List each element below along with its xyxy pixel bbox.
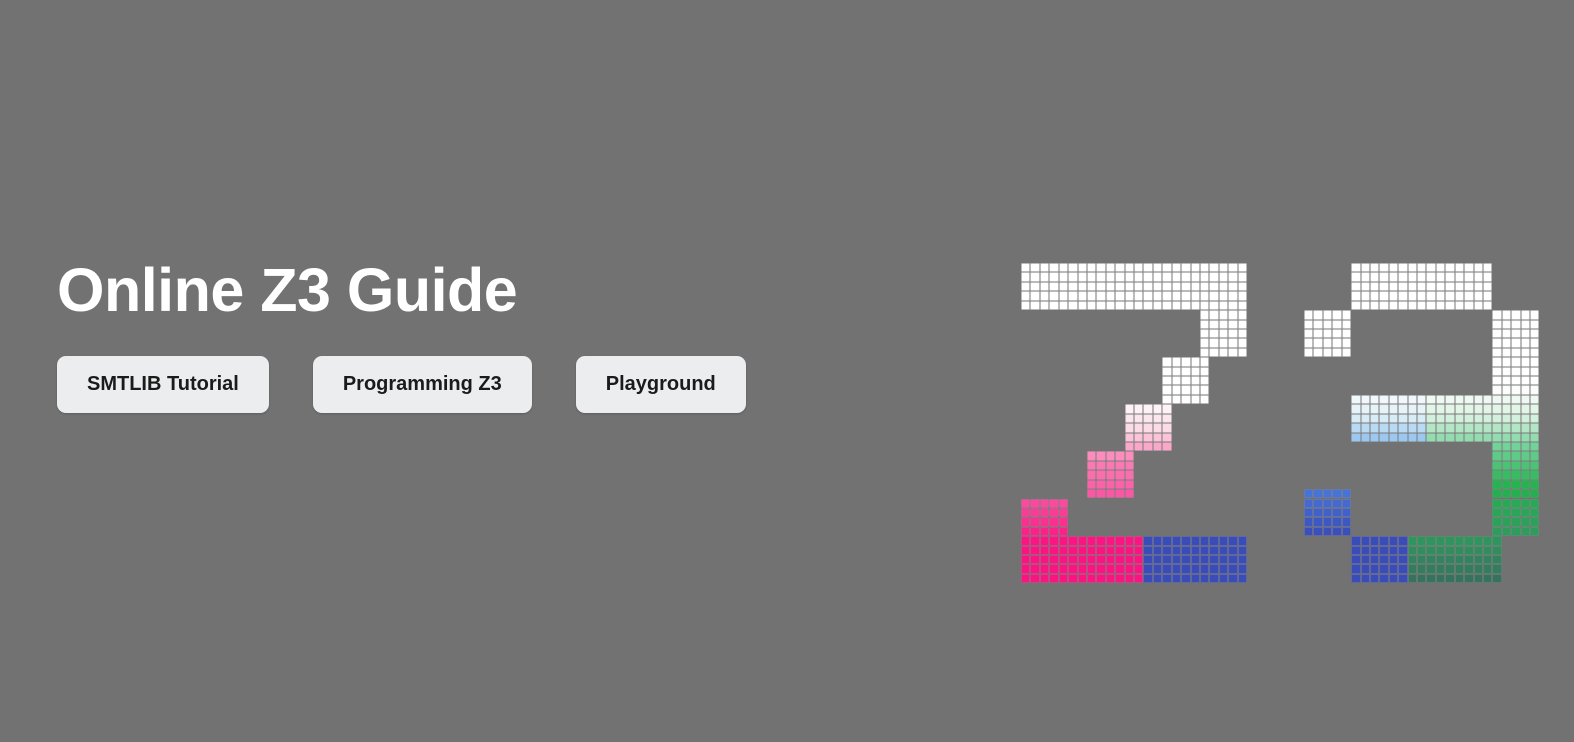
- pixel-cell: [1068, 546, 1077, 555]
- pixel-cell: [1030, 517, 1039, 526]
- pixel-cell: [1530, 320, 1539, 329]
- pixel-cell: [1106, 301, 1115, 310]
- pixel-cell: [1332, 338, 1341, 347]
- pixel-cell: [1172, 367, 1181, 376]
- pixel-cell: [1511, 367, 1520, 376]
- pixel-cell: [1153, 433, 1162, 442]
- pixel-cell: [1530, 329, 1539, 338]
- pixel-cell: [1379, 395, 1388, 404]
- pixel-cell: [1049, 546, 1058, 555]
- pixel-cell: [1455, 291, 1464, 300]
- pixel-cell: [1332, 517, 1341, 526]
- pixel-cell: [1087, 564, 1096, 573]
- pixel-cell: [1502, 338, 1511, 347]
- pixel-cell: [1209, 282, 1218, 291]
- pixel-cell: [1059, 555, 1068, 564]
- pixel-cell: [1172, 564, 1181, 573]
- pixel-cell: [1078, 263, 1087, 272]
- pixel-cell: [1389, 546, 1398, 555]
- pixel-cell: [1511, 395, 1520, 404]
- pixel-cell: [1511, 357, 1520, 366]
- pixel-cell: [1455, 263, 1464, 272]
- pixel-cell: [1191, 367, 1200, 376]
- pixel-cell: [1096, 263, 1105, 272]
- pixel-cell: [1379, 404, 1388, 413]
- pixel-cell: [1134, 536, 1143, 545]
- pixel-cell: [1379, 301, 1388, 310]
- pixel-cell: [1143, 536, 1152, 545]
- pixel-cell: [1040, 574, 1049, 583]
- pixel-cell: [1521, 423, 1530, 432]
- pixel-cell: [1389, 414, 1398, 423]
- pixel-cell: [1426, 546, 1435, 555]
- pixel-cell: [1530, 527, 1539, 536]
- pixel-cell: [1200, 395, 1209, 404]
- pixel-cell: [1389, 574, 1398, 583]
- playground-button[interactable]: Playground: [576, 356, 746, 413]
- pixel-cell: [1464, 536, 1473, 545]
- pixel-cell: [1417, 574, 1426, 583]
- pixel-cell: [1492, 527, 1501, 536]
- pixel-cell: [1436, 546, 1445, 555]
- pixel-cell: [1228, 564, 1237, 573]
- pixel-cell: [1370, 395, 1379, 404]
- pixel-cell: [1238, 291, 1247, 300]
- pixel-cell: [1474, 423, 1483, 432]
- pixel-cell: [1474, 282, 1483, 291]
- pixel-cell: [1162, 574, 1171, 583]
- pixel-cell: [1455, 423, 1464, 432]
- pixel-cell: [1078, 555, 1087, 564]
- pixel-cell: [1125, 546, 1134, 555]
- pixel-cell: [1153, 414, 1162, 423]
- pixel-cell: [1153, 536, 1162, 545]
- pixel-cell: [1530, 357, 1539, 366]
- pixel-cell: [1115, 282, 1124, 291]
- pixel-cell: [1059, 546, 1068, 555]
- pixel-cell: [1200, 291, 1209, 300]
- pixel-cell: [1408, 301, 1417, 310]
- pixel-cell: [1040, 546, 1049, 555]
- pixel-cell: [1436, 395, 1445, 404]
- pixel-cell: [1200, 272, 1209, 281]
- pixel-cell: [1417, 272, 1426, 281]
- pixel-cell: [1153, 423, 1162, 432]
- pixel-cell: [1389, 404, 1398, 413]
- pixel-cell: [1370, 574, 1379, 583]
- pixel-cell: [1492, 367, 1501, 376]
- pixel-cell: [1445, 291, 1454, 300]
- pixel-cell: [1040, 301, 1049, 310]
- pixel-cell: [1200, 574, 1209, 583]
- pixel-cell: [1492, 536, 1501, 545]
- pixel-cell: [1228, 272, 1237, 281]
- pixel-cell: [1125, 480, 1134, 489]
- pixel-cell: [1181, 385, 1190, 394]
- pixel-cell: [1200, 555, 1209, 564]
- pixel-cell: [1379, 282, 1388, 291]
- pixel-cell: [1106, 461, 1115, 470]
- pixel-cell: [1021, 527, 1030, 536]
- pixel-cell: [1502, 442, 1511, 451]
- pixel-cell: [1200, 301, 1209, 310]
- pixel-cell: [1323, 320, 1332, 329]
- pixel-cell: [1125, 404, 1134, 413]
- pixel-cell: [1153, 291, 1162, 300]
- pixel-cell: [1078, 272, 1087, 281]
- pixel-cell: [1474, 433, 1483, 442]
- pixel-cell: [1191, 546, 1200, 555]
- pixel-cell: [1492, 480, 1501, 489]
- pixel-cell: [1068, 574, 1077, 583]
- pixel-cell: [1304, 508, 1313, 517]
- pixel-cell: [1125, 555, 1134, 564]
- pixel-cell: [1096, 555, 1105, 564]
- pixel-cell: [1408, 263, 1417, 272]
- pixel-cell: [1342, 527, 1351, 536]
- pixel-cell: [1455, 564, 1464, 573]
- pixel-cell: [1040, 263, 1049, 272]
- pixel-cell: [1162, 291, 1171, 300]
- pixel-cell: [1492, 310, 1501, 319]
- pixel-cell: [1464, 291, 1473, 300]
- pixel-cell: [1181, 574, 1190, 583]
- pixel-cell: [1209, 320, 1218, 329]
- pixel-cell: [1021, 574, 1030, 583]
- pixel-cell: [1511, 489, 1520, 498]
- pixel-cell: [1219, 329, 1228, 338]
- pixel-cell: [1209, 348, 1218, 357]
- pixel-cell: [1464, 301, 1473, 310]
- pixel-cell: [1530, 489, 1539, 498]
- pixel-cell: [1361, 301, 1370, 310]
- pixel-cell: [1304, 310, 1313, 319]
- pixel-cell: [1426, 272, 1435, 281]
- pixel-cell: [1408, 564, 1417, 573]
- pixel-cell: [1172, 272, 1181, 281]
- pixel-cell: [1134, 272, 1143, 281]
- pixel-cell: [1125, 423, 1134, 432]
- pixel-cell: [1474, 564, 1483, 573]
- pixel-cell: [1125, 564, 1134, 573]
- pixel-cell: [1361, 546, 1370, 555]
- pixel-cell: [1351, 263, 1360, 272]
- pixel-cell: [1209, 574, 1218, 583]
- pixel-cell: [1096, 574, 1105, 583]
- pixel-cell: [1370, 423, 1379, 432]
- pixel-cell: [1172, 301, 1181, 310]
- pixel-cell: [1492, 574, 1501, 583]
- pixel-cell: [1530, 414, 1539, 423]
- pixel-cell: [1417, 555, 1426, 564]
- pixel-cell: [1096, 461, 1105, 470]
- pixel-cell: [1474, 263, 1483, 272]
- pixel-cell: [1408, 282, 1417, 291]
- pixel-cell: [1436, 536, 1445, 545]
- pixel-cell: [1521, 451, 1530, 460]
- pixel-cell: [1191, 272, 1200, 281]
- pixel-cell: [1332, 508, 1341, 517]
- pixel-cell: [1389, 536, 1398, 545]
- pixel-cell: [1134, 546, 1143, 555]
- pixel-cell: [1125, 272, 1134, 281]
- pixel-cell: [1379, 536, 1388, 545]
- pixel-cell: [1068, 564, 1077, 573]
- pixel-cell: [1521, 414, 1530, 423]
- pixel-cell: [1521, 461, 1530, 470]
- pixel-cell: [1096, 536, 1105, 545]
- pixel-cell: [1200, 338, 1209, 347]
- pixel-cell: [1342, 499, 1351, 508]
- pixel-cell: [1436, 414, 1445, 423]
- pixel-cell: [1492, 423, 1501, 432]
- pixel-cell: [1342, 338, 1351, 347]
- pixel-cell: [1389, 433, 1398, 442]
- pixel-cell: [1408, 433, 1417, 442]
- pixel-cell: [1228, 546, 1237, 555]
- pixel-cell: [1530, 395, 1539, 404]
- pixel-cell: [1502, 527, 1511, 536]
- pixel-cell: [1191, 263, 1200, 272]
- pixel-cell: [1351, 404, 1360, 413]
- pixel-cell: [1219, 320, 1228, 329]
- pixel-cell: [1492, 404, 1501, 413]
- pixel-cell: [1521, 348, 1530, 357]
- pixel-cell: [1096, 282, 1105, 291]
- pixel-cell: [1530, 404, 1539, 413]
- pixel-cell: [1040, 517, 1049, 526]
- pixel-cell: [1351, 423, 1360, 432]
- pixel-cell: [1361, 291, 1370, 300]
- pixel-cell: [1059, 564, 1068, 573]
- pixel-cell: [1379, 291, 1388, 300]
- pixel-cell: [1115, 301, 1124, 310]
- pixel-cell: [1323, 489, 1332, 498]
- pixel-cell: [1200, 536, 1209, 545]
- pixel-cell: [1361, 423, 1370, 432]
- pixel-cell: [1228, 338, 1237, 347]
- pixel-cell: [1106, 272, 1115, 281]
- pixel-cell: [1304, 517, 1313, 526]
- pixel-cell: [1238, 348, 1247, 357]
- pixel-cell: [1181, 395, 1190, 404]
- pixel-cell: [1040, 555, 1049, 564]
- pixel-cell: [1200, 376, 1209, 385]
- pixel-cell: [1521, 367, 1530, 376]
- pixel-cell: [1455, 546, 1464, 555]
- pixel-cell: [1125, 301, 1134, 310]
- pixel-cell: [1445, 404, 1454, 413]
- pixel-cell: [1474, 546, 1483, 555]
- pixel-cell: [1304, 348, 1313, 357]
- pixel-cell: [1049, 536, 1058, 545]
- pixel-cell: [1219, 555, 1228, 564]
- pixel-cell: [1426, 433, 1435, 442]
- pixel-cell: [1502, 329, 1511, 338]
- pixel-cell: [1530, 433, 1539, 442]
- pixel-cell: [1134, 404, 1143, 413]
- pixel-cell: [1455, 433, 1464, 442]
- pixel-cell: [1464, 404, 1473, 413]
- pixel-cell: [1228, 320, 1237, 329]
- pixel-cell: [1379, 272, 1388, 281]
- pixel-cell: [1162, 263, 1171, 272]
- pixel-cell: [1313, 320, 1322, 329]
- pixel-cell: [1511, 499, 1520, 508]
- pixel-cell: [1492, 348, 1501, 357]
- pixel-cell: [1059, 536, 1068, 545]
- pixel-cell: [1181, 291, 1190, 300]
- pixel-cell: [1078, 301, 1087, 310]
- pixel-cell: [1078, 546, 1087, 555]
- pixel-cell: [1143, 546, 1152, 555]
- pixel-cell: [1530, 423, 1539, 432]
- pixel-cell: [1530, 348, 1539, 357]
- pixel-cell: [1389, 282, 1398, 291]
- pixel-cell: [1492, 564, 1501, 573]
- pixel-cell: [1153, 282, 1162, 291]
- pixel-cell: [1219, 301, 1228, 310]
- pixel-cell: [1398, 404, 1407, 413]
- pixel-cell: [1219, 564, 1228, 573]
- pixel-cell: [1502, 414, 1511, 423]
- pixel-cell: [1228, 291, 1237, 300]
- pixel-cell: [1030, 536, 1039, 545]
- pixel-cell: [1398, 291, 1407, 300]
- pixel-cell: [1521, 395, 1530, 404]
- pixel-cell: [1068, 282, 1077, 291]
- pixel-cell: [1087, 282, 1096, 291]
- pixel-cell: [1143, 555, 1152, 564]
- hero-text-block: Online Z3 Guide SMTLIB Tutorial Programm…: [57, 258, 957, 413]
- pixel-cell: [1172, 376, 1181, 385]
- pixel-cell: [1492, 508, 1501, 517]
- pixel-cell: [1106, 470, 1115, 479]
- pixel-cell: [1511, 320, 1520, 329]
- pixel-cell: [1408, 395, 1417, 404]
- pixel-cell: [1162, 301, 1171, 310]
- pixel-cell: [1502, 489, 1511, 498]
- pixel-cell: [1209, 338, 1218, 347]
- pixel-cell: [1521, 320, 1530, 329]
- pixel-cell: [1153, 442, 1162, 451]
- pixel-cell: [1530, 376, 1539, 385]
- pixel-cell: [1153, 263, 1162, 272]
- pixel-cell: [1228, 329, 1237, 338]
- pixel-cell: [1181, 555, 1190, 564]
- pixel-cell: [1115, 546, 1124, 555]
- hero-section: Online Z3 Guide SMTLIB Tutorial Programm…: [0, 0, 1574, 742]
- pixel-cell: [1219, 338, 1228, 347]
- pixel-cell: [1530, 385, 1539, 394]
- pixel-cell: [1370, 404, 1379, 413]
- pixel-cell: [1030, 555, 1039, 564]
- z3-pixel-logo: [1019, 261, 1529, 591]
- pixel-cell: [1162, 395, 1171, 404]
- pixel-cell: [1474, 414, 1483, 423]
- programming-z3-button[interactable]: Programming Z3: [313, 356, 532, 413]
- pixel-cell: [1323, 508, 1332, 517]
- pixel-cell: [1078, 574, 1087, 583]
- pixel-cell: [1379, 423, 1388, 432]
- pixel-cell: [1087, 480, 1096, 489]
- pixel-cell: [1511, 385, 1520, 394]
- pixel-cell: [1087, 301, 1096, 310]
- pixel-cell: [1115, 291, 1124, 300]
- pixel-cell: [1078, 291, 1087, 300]
- pixel-cell: [1106, 489, 1115, 498]
- pixel-cell: [1030, 282, 1039, 291]
- pixel-cell: [1455, 272, 1464, 281]
- pixel-cell: [1389, 564, 1398, 573]
- pixel-cell: [1455, 536, 1464, 545]
- pixel-cell: [1464, 564, 1473, 573]
- pixel-cell: [1134, 574, 1143, 583]
- pixel-cell: [1068, 291, 1077, 300]
- pixel-cell: [1162, 536, 1171, 545]
- pixel-cell: [1096, 291, 1105, 300]
- pixel-cell: [1436, 301, 1445, 310]
- pixel-cell: [1049, 574, 1058, 583]
- pixel-cell: [1351, 574, 1360, 583]
- pixel-cell: [1181, 301, 1190, 310]
- pixel-cell: [1361, 395, 1370, 404]
- pixel-cell: [1238, 272, 1247, 281]
- pixel-cell: [1323, 329, 1332, 338]
- pixel-cell: [1521, 517, 1530, 526]
- pixel-cell: [1379, 433, 1388, 442]
- pixel-cell: [1134, 414, 1143, 423]
- smtlib-tutorial-button[interactable]: SMTLIB Tutorial: [57, 356, 269, 413]
- pixel-cell: [1068, 301, 1077, 310]
- pixel-cell: [1143, 263, 1152, 272]
- pixel-cell: [1030, 508, 1039, 517]
- pixel-cell: [1530, 461, 1539, 470]
- pixel-cell: [1191, 291, 1200, 300]
- pixel-cell: [1492, 433, 1501, 442]
- pixel-cell: [1191, 282, 1200, 291]
- pixel-cell: [1426, 291, 1435, 300]
- pixel-cell: [1511, 310, 1520, 319]
- pixel-cell: [1228, 555, 1237, 564]
- pixel-cell: [1172, 574, 1181, 583]
- pixel-cell: [1143, 282, 1152, 291]
- pixel-cell: [1115, 555, 1124, 564]
- pixel-cell: [1200, 282, 1209, 291]
- pixel-cell: [1238, 564, 1247, 573]
- pixel-cell: [1172, 263, 1181, 272]
- pixel-cell: [1059, 301, 1068, 310]
- pixel-cell: [1521, 508, 1530, 517]
- pixel-cell: [1342, 508, 1351, 517]
- pixel-cell: [1521, 470, 1530, 479]
- pixel-cell: [1304, 499, 1313, 508]
- pixel-cell: [1398, 282, 1407, 291]
- pixel-cell: [1361, 263, 1370, 272]
- pixel-cell: [1134, 263, 1143, 272]
- pixel-cell: [1021, 291, 1030, 300]
- pixel-cell: [1106, 480, 1115, 489]
- pixel-cell: [1342, 348, 1351, 357]
- pixel-cell: [1143, 423, 1152, 432]
- pixel-cell: [1530, 310, 1539, 319]
- pixel-cell: [1370, 282, 1379, 291]
- pixel-cell: [1492, 376, 1501, 385]
- pixel-cell: [1087, 555, 1096, 564]
- pixel-cell: [1021, 282, 1030, 291]
- pixel-cell: [1021, 499, 1030, 508]
- pixel-cell: [1417, 536, 1426, 545]
